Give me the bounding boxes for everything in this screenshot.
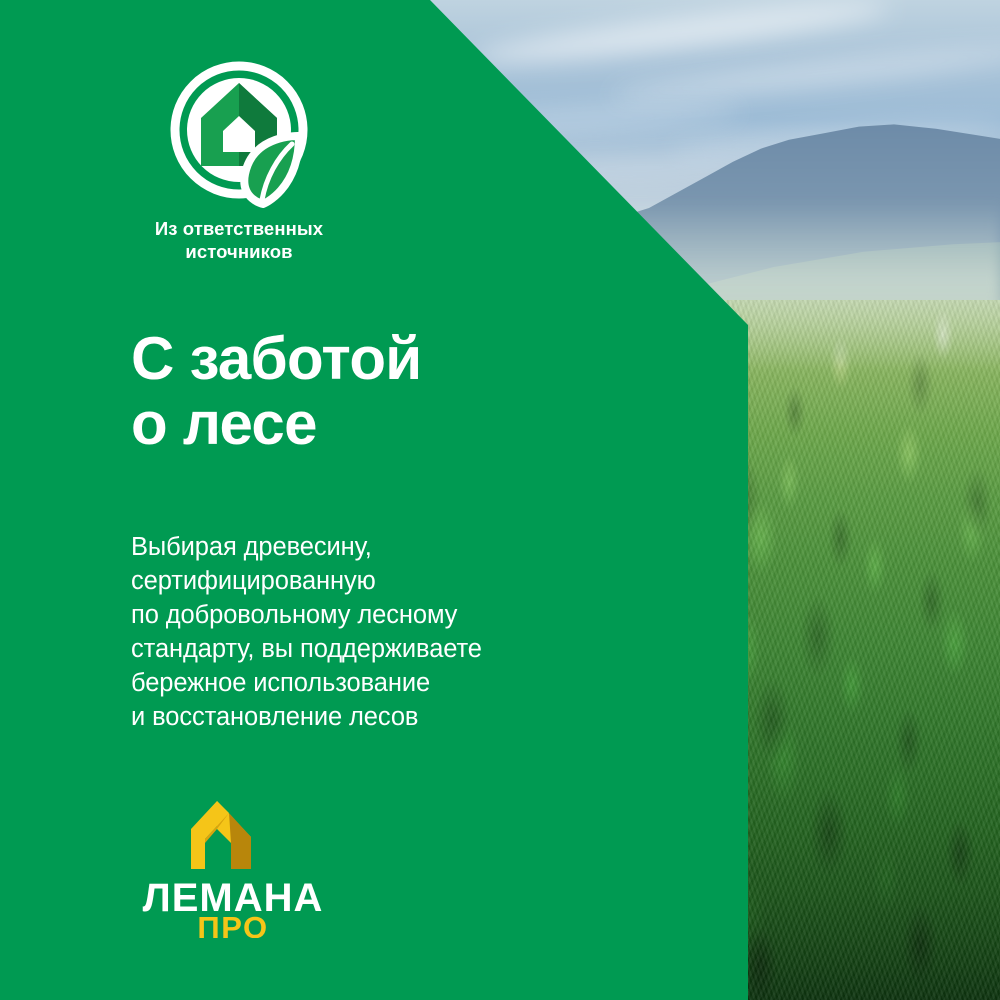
lemana-pro-logo: ЛЕМАНА ПРО [133, 793, 333, 938]
page-title: С заботой о лесе [131, 327, 421, 457]
certification-badge: Из ответственных источников [124, 58, 354, 263]
pro-wordmark: ПРО [197, 910, 268, 938]
responsible-sources-house-leaf-icon [167, 58, 312, 208]
svg-text:ПРО: ПРО [197, 910, 268, 938]
lemana-pro-logo-svg: ЛЕМАНА ПРО [133, 793, 333, 938]
poster-content: Из ответственных источников С заботой о … [0, 0, 1000, 1000]
lemana-house-icon [191, 801, 251, 869]
body-paragraph: Выбирая древесину, сертифицированную по … [131, 531, 482, 734]
certification-caption: Из ответственных источников [124, 218, 354, 263]
poster-canvas: Из ответственных источников С заботой о … [0, 0, 1000, 1000]
